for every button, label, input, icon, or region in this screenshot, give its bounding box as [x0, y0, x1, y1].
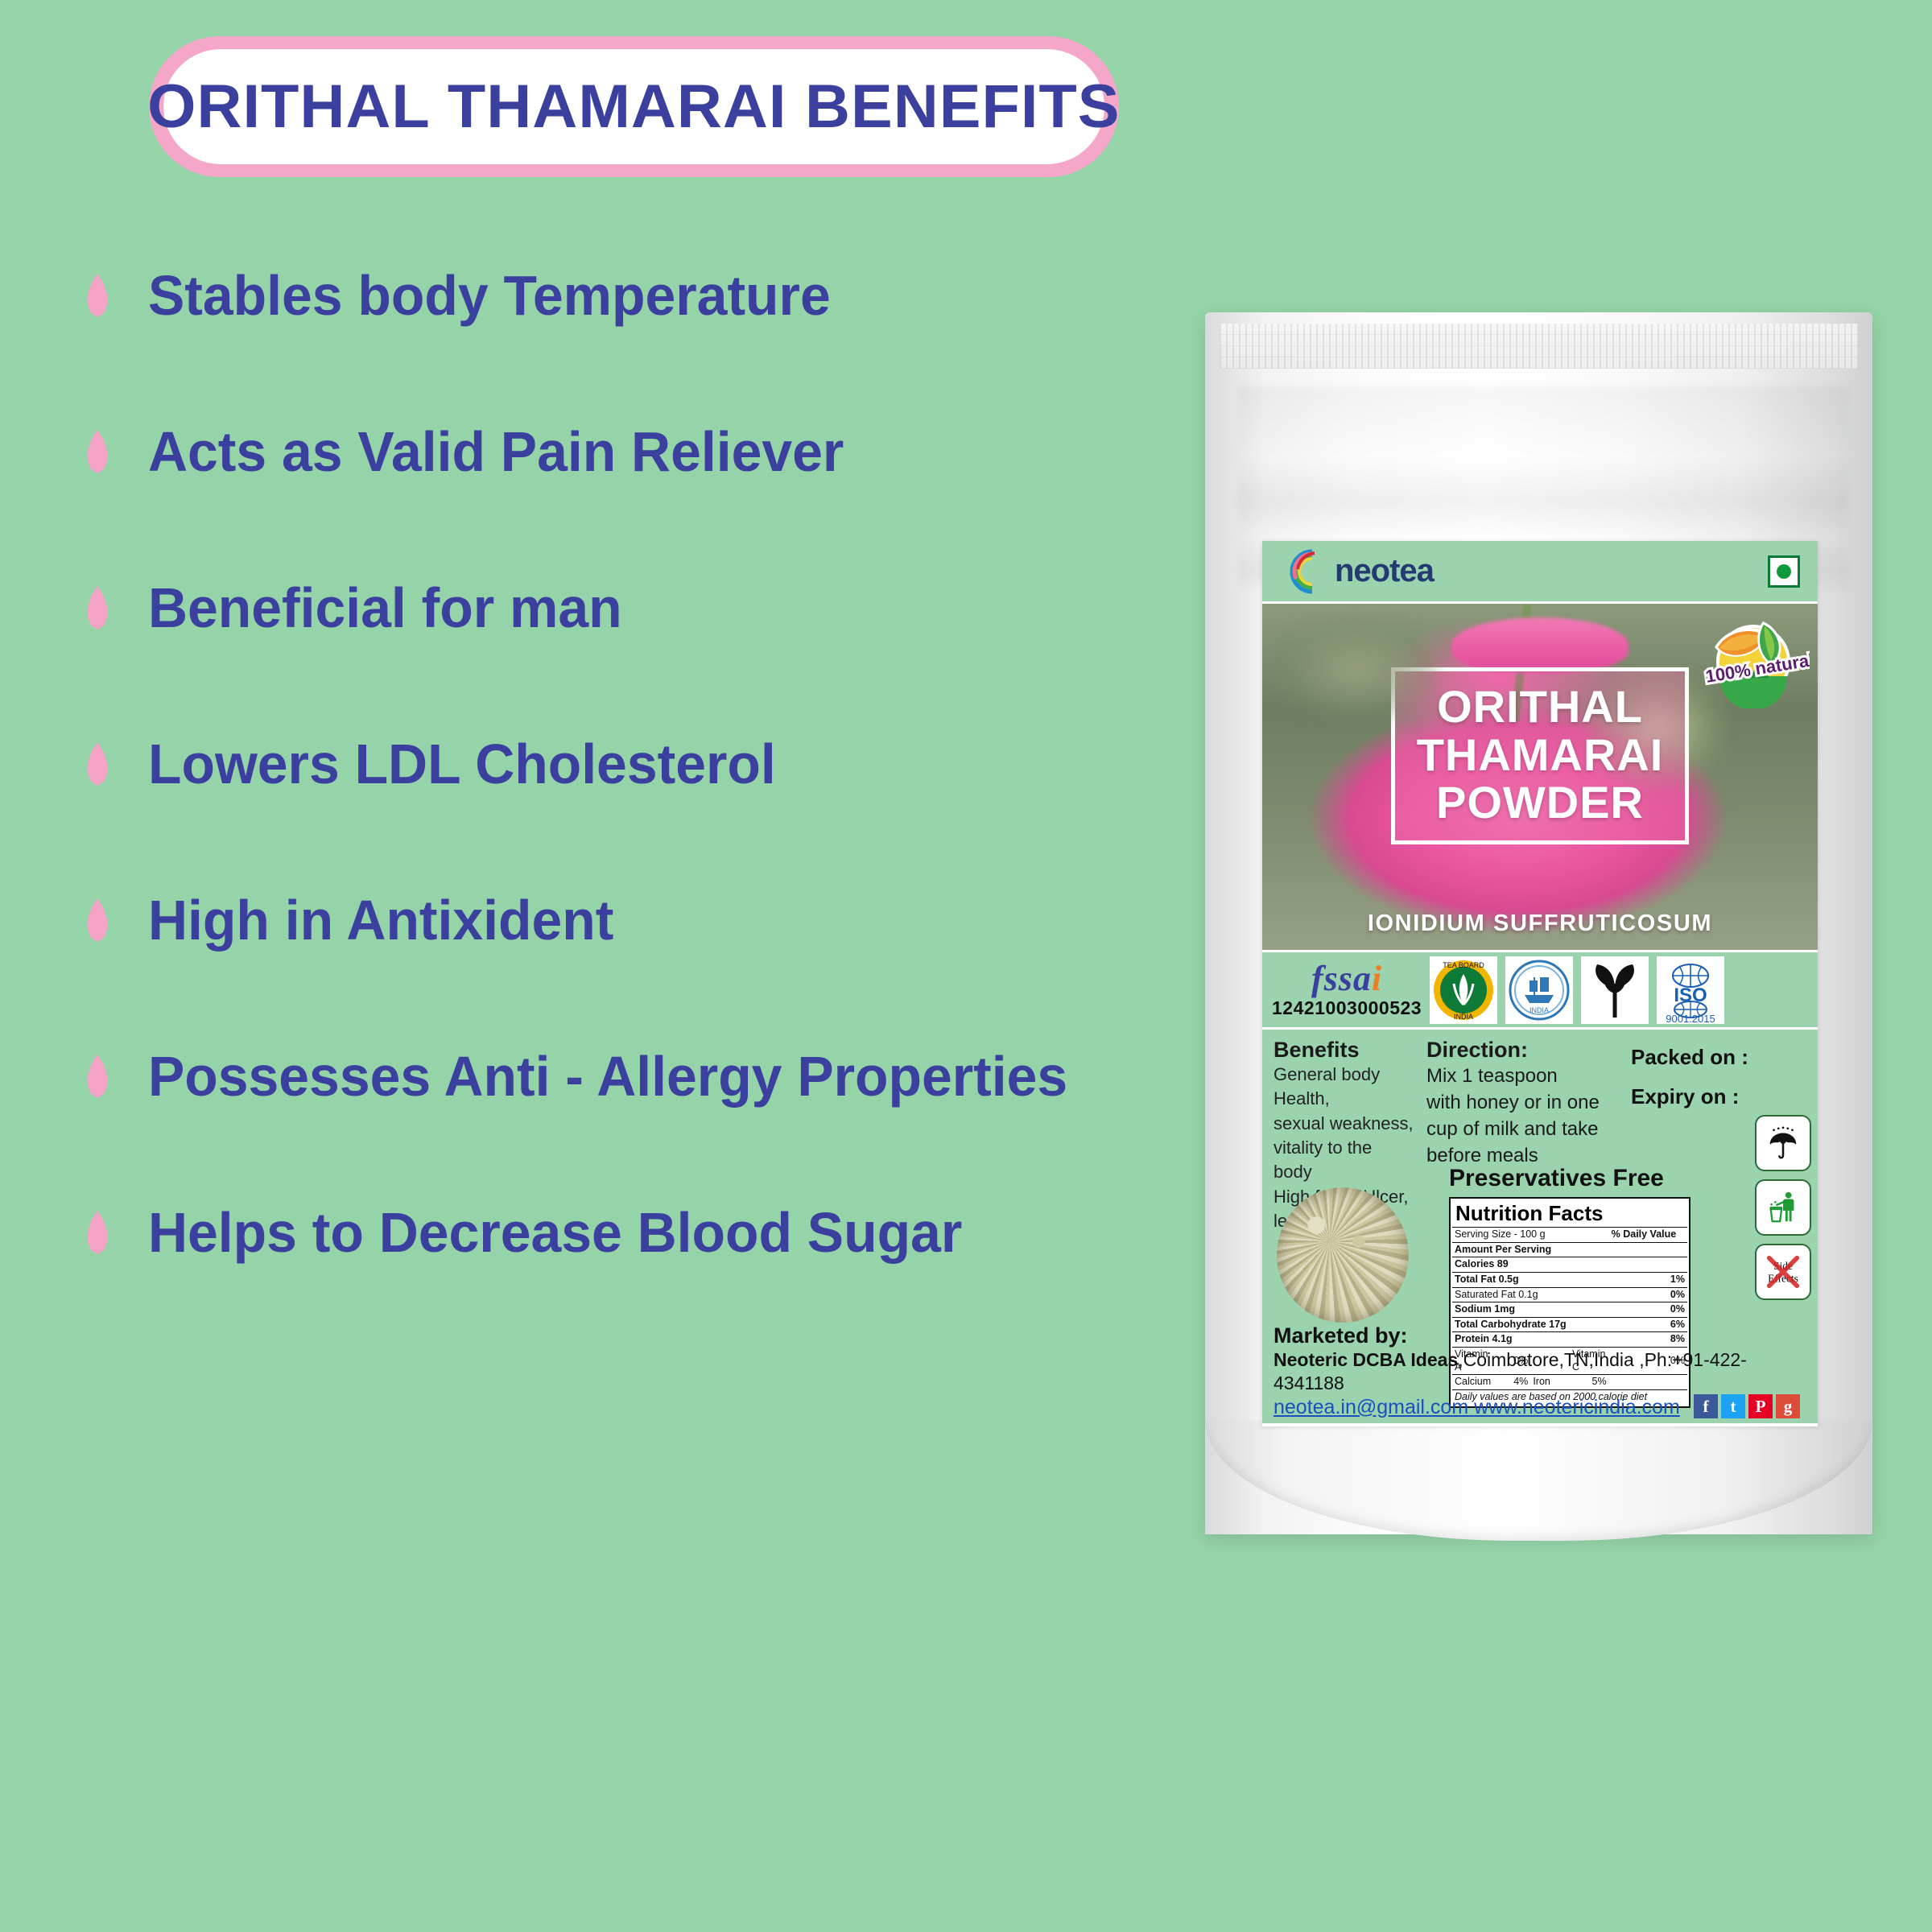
- sodium-cell: Sodium 1mg: [1452, 1302, 1609, 1318]
- certification-row: fssai 12421003000523 TEA BOARD INDIA: [1262, 950, 1818, 1027]
- product-name-line-1: ORITHAL: [1403, 683, 1677, 730]
- social-icons: f t P g: [1694, 1394, 1800, 1418]
- benefits-line: vitality to the body: [1274, 1136, 1415, 1185]
- dispose-in-bin-icon: [1755, 1179, 1811, 1236]
- brand-name: neotea: [1335, 553, 1434, 589]
- title-banner: ORITHAL THAMARAI BENEFITS: [149, 36, 1119, 177]
- list-item-label: Beneficial for man: [148, 580, 622, 636]
- saturated-fat-dv: 0%: [1609, 1287, 1687, 1302]
- list-item-label: High in Antixident: [148, 892, 613, 948]
- serving-size-cell: Serving Size - 100 g: [1452, 1228, 1609, 1243]
- benefits-line: General body Health,: [1274, 1063, 1415, 1112]
- product-name-line-3: POWDER: [1403, 778, 1677, 826]
- nutrition-facts-title: Nutrition Facts: [1452, 1200, 1687, 1227]
- handling-pictograms: Side Effects: [1755, 1115, 1811, 1300]
- benefits-list: Stables body Temperature Acts as Valid P…: [77, 217, 1148, 1311]
- expiry-on-label: Expiry on :: [1631, 1077, 1792, 1117]
- label-info-block: Benefits General body Health, sexual wea…: [1262, 1027, 1818, 1423]
- droplet-icon: [84, 1211, 111, 1254]
- facebook-icon[interactable]: f: [1694, 1394, 1718, 1418]
- table-row: Sodium 1mg 0%: [1452, 1302, 1687, 1318]
- packed-on-label: Packed on :: [1631, 1038, 1792, 1077]
- list-item: Possesses Anti - Allergy Properties: [77, 998, 1148, 1154]
- table-row: Saturated Fat 0.1g 0%: [1452, 1287, 1687, 1302]
- marketed-by-company-line: Neoteric DCBA Ideas,Coimbatore,TN,India …: [1274, 1348, 1805, 1395]
- fssai-license-number: 12421003000523: [1272, 997, 1422, 1019]
- no-side-effects-icon: Side Effects: [1755, 1244, 1811, 1300]
- tea-board-india-logo-icon: TEA BOARD INDIA: [1430, 956, 1497, 1024]
- marketed-by-heading: Marketed by:: [1274, 1323, 1805, 1348]
- table-row: Serving Size - 100 g % Daily Value: [1452, 1228, 1687, 1243]
- product-name-line-2: THAMARAI: [1403, 731, 1677, 778]
- total-fat-cell: Total Fat 0.5g: [1452, 1272, 1609, 1287]
- list-item-label: Lowers LDL Cholesterol: [148, 736, 776, 792]
- saturated-fat-cell: Saturated Fat 0.1g: [1452, 1287, 1609, 1302]
- product-name-box: ORITHAL THAMARAI POWDER: [1391, 667, 1689, 844]
- poster-canvas: ORITHAL THAMARAI BENEFITS Stables body T…: [0, 0, 1932, 1932]
- sodium-dv: 0%: [1609, 1302, 1687, 1318]
- powder-swatch-image: [1277, 1187, 1409, 1323]
- droplet-icon: [84, 274, 111, 317]
- product-label: neotea 1: [1262, 541, 1818, 1426]
- list-item: Acts as Valid Pain Reliever: [77, 374, 1148, 530]
- direction-line: Mix 1 teaspoon: [1426, 1063, 1620, 1089]
- 100-percent-natural-badge-icon: 100% natural 100% natural: [1692, 612, 1810, 708]
- label-header: neotea: [1262, 541, 1818, 604]
- list-item: Lowers LDL Cholesterol: [77, 686, 1148, 842]
- list-item-label: Possesses Anti - Allergy Properties: [148, 1048, 1067, 1104]
- preservatives-free-text: Preservatives Free: [1449, 1165, 1664, 1192]
- marketed-by-block: Marketed by: Neoteric DCBA Ideas,Coimbat…: [1274, 1323, 1805, 1420]
- twitter-icon[interactable]: t: [1721, 1394, 1745, 1418]
- pinterest-icon[interactable]: P: [1748, 1394, 1773, 1418]
- benefits-heading: Benefits: [1274, 1038, 1415, 1063]
- list-item: Stables body Temperature: [77, 217, 1148, 374]
- neotea-swirl-icon: [1280, 547, 1330, 597]
- email-link[interactable]: neotea.in@gmail.com: [1274, 1396, 1468, 1418]
- droplet-icon: [84, 898, 111, 942]
- table-row: Total Fat 0.5g 1%: [1452, 1272, 1687, 1287]
- droplet-icon: [84, 586, 111, 630]
- list-item: High in Antixident: [77, 842, 1148, 998]
- fssai-logo-icon: fssai: [1311, 961, 1382, 997]
- google-plus-icon[interactable]: g: [1776, 1394, 1800, 1418]
- direction-line: cup of milk and take: [1426, 1116, 1620, 1142]
- table-row: Amount Per Serving: [1452, 1242, 1687, 1257]
- list-item-label: Helps to Decrease Blood Sugar: [148, 1204, 962, 1261]
- veg-mark-icon: [1768, 555, 1800, 588]
- svg-text:INDIA: INDIA: [1454, 1013, 1473, 1021]
- amount-per-serving-cell: Amount Per Serving: [1452, 1242, 1687, 1257]
- direction-heading: Direction:: [1426, 1038, 1620, 1063]
- pouch-zipper: [1220, 324, 1858, 369]
- spices-board-india-logo-icon: INDIA: [1505, 956, 1573, 1024]
- list-item-label: Stables body Temperature: [148, 267, 831, 324]
- svg-text:TEA BOARD: TEA BOARD: [1443, 961, 1484, 969]
- organic-leaf-mark-icon: [1581, 956, 1649, 1024]
- droplet-icon: [84, 1055, 111, 1098]
- brand-lockup: neotea: [1280, 547, 1434, 597]
- direction-line: with honey or in one: [1426, 1089, 1620, 1116]
- svg-text:INDIA: INDIA: [1529, 1006, 1549, 1014]
- title-banner-inner: ORITHAL THAMARAI BENEFITS: [163, 49, 1104, 164]
- svg-text:9001:2015: 9001:2015: [1666, 1013, 1715, 1024]
- flower-top-petals: [1451, 617, 1629, 673]
- list-item: Beneficial for man: [77, 530, 1148, 686]
- keep-dry-umbrella-icon: [1755, 1115, 1811, 1171]
- veg-dot: [1777, 564, 1791, 579]
- page-title: ORITHAL THAMARAI BENEFITS: [147, 72, 1120, 142]
- botanical-name: IONIDIUM SUFFRUTICOSUM: [1262, 910, 1818, 937]
- list-item: Helps to Decrease Blood Sugar: [77, 1154, 1148, 1311]
- droplet-icon: [84, 430, 111, 473]
- fssai-certification: fssai 12421003000523: [1272, 956, 1422, 1024]
- iso-certification-icon: ISO 9001:2015: [1657, 956, 1724, 1024]
- droplet-icon: [84, 742, 111, 786]
- total-fat-dv: 1%: [1609, 1272, 1687, 1287]
- calories-cell: Calories 89: [1452, 1257, 1687, 1273]
- website-link[interactable]: www.neotericindia.com: [1474, 1396, 1680, 1418]
- product-hero-photo: 100% natural 100% natural ORITHAL THAMAR…: [1262, 604, 1818, 950]
- daily-value-header-cell: % Daily Value: [1609, 1228, 1687, 1243]
- list-item-label: Acts as Valid Pain Reliever: [148, 423, 844, 480]
- benefits-line: sexual weakness,: [1274, 1112, 1415, 1136]
- table-row: Calories 89: [1452, 1257, 1687, 1273]
- marketed-by-company: Neoteric DCBA Ideas: [1274, 1349, 1458, 1370]
